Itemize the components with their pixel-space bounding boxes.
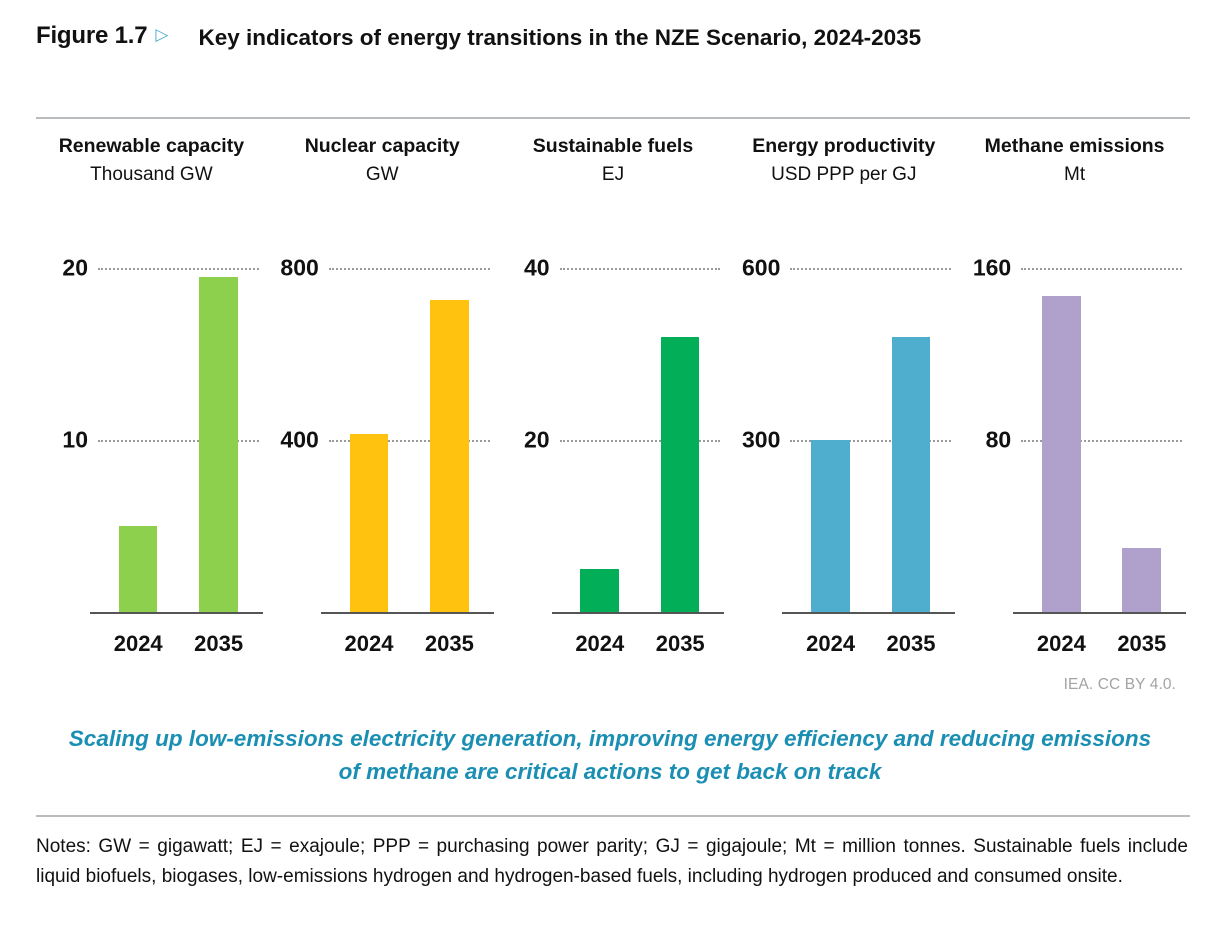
x-axis-labels: 20242035 bbox=[98, 631, 259, 657]
x-axis-labels: 20242035 bbox=[1021, 631, 1182, 657]
chart-panels: Renewable capacityThousand GW10202024203… bbox=[36, 133, 1190, 653]
panel-unit: GW bbox=[267, 162, 498, 189]
bar-renewable-capacity-2024 bbox=[119, 526, 158, 612]
figure-label: Figure 1.7 bbox=[36, 22, 147, 50]
x-axis-tick-label: 2035 bbox=[871, 631, 951, 657]
bar-group bbox=[329, 268, 490, 612]
triangle-right-icon: ▷ bbox=[155, 26, 168, 43]
panel-energy-productivity: Energy productivityUSD PPP per GJ3006002… bbox=[728, 133, 959, 653]
panel-unit: EJ bbox=[498, 162, 729, 189]
x-axis-labels: 20242035 bbox=[790, 631, 951, 657]
panel-nuclear-capacity: Nuclear capacityGW40080020242035 bbox=[267, 133, 498, 653]
figure-title-row: Figure 1.7 ▷ Key indicators of energy tr… bbox=[36, 22, 1186, 55]
bar-methane-emissions-2035 bbox=[1122, 548, 1161, 613]
panel-heading: Nuclear capacityGW bbox=[267, 133, 498, 189]
y-axis-tick-label: 300 bbox=[742, 427, 780, 454]
x-axis-line bbox=[321, 612, 494, 614]
bar-energy-productivity-2035 bbox=[892, 337, 931, 612]
panel-plot: 30060020242035 bbox=[728, 251, 959, 621]
panel-plot: 204020242035 bbox=[498, 251, 729, 621]
bar-methane-emissions-2024 bbox=[1042, 296, 1081, 612]
panel-heading: Renewable capacityThousand GW bbox=[36, 133, 267, 189]
page-title: Key indicators of energy transitions in … bbox=[198, 22, 921, 55]
bar-energy-productivity-2024 bbox=[811, 440, 850, 612]
y-axis-tick-label: 160 bbox=[973, 255, 1011, 282]
figure-page: Figure 1.7 ▷ Key indicators of energy tr… bbox=[0, 0, 1216, 930]
y-axis-tick-label: 80 bbox=[986, 427, 1012, 454]
plot-area: 1020 bbox=[98, 268, 259, 612]
panel-renewable-capacity: Renewable capacityThousand GW10202024203… bbox=[36, 133, 267, 653]
panel-unit: USD PPP per GJ bbox=[728, 162, 959, 189]
x-axis-tick-label: 2024 bbox=[560, 631, 640, 657]
bar-renewable-capacity-2035 bbox=[199, 277, 238, 612]
y-axis-tick-label: 800 bbox=[280, 255, 318, 282]
y-axis-tick-label: 10 bbox=[62, 427, 88, 454]
iea-credit: IEA. CC BY 4.0. bbox=[1064, 676, 1176, 694]
panel-plot: 102020242035 bbox=[36, 251, 267, 621]
x-axis-labels: 20242035 bbox=[329, 631, 490, 657]
x-axis-tick-label: 2024 bbox=[329, 631, 409, 657]
plot-area: 300600 bbox=[790, 268, 951, 612]
x-axis-tick-label: 2035 bbox=[178, 631, 258, 657]
panel-plot: 8016020242035 bbox=[959, 251, 1190, 621]
x-axis-line bbox=[782, 612, 955, 614]
divider-bottom bbox=[36, 815, 1190, 817]
x-axis-line bbox=[552, 612, 725, 614]
x-axis-line bbox=[90, 612, 263, 614]
y-axis-tick-label: 400 bbox=[280, 427, 318, 454]
x-axis-tick-label: 2035 bbox=[640, 631, 720, 657]
y-axis-tick-label: 20 bbox=[62, 255, 88, 282]
bar-group bbox=[560, 268, 721, 612]
x-axis-tick-label: 2024 bbox=[790, 631, 870, 657]
x-axis-labels: 20242035 bbox=[560, 631, 721, 657]
panel-title: Nuclear capacity bbox=[267, 133, 498, 161]
y-axis-tick-label: 600 bbox=[742, 255, 780, 282]
plot-area: 400800 bbox=[329, 268, 490, 612]
x-axis-tick-label: 2035 bbox=[1102, 631, 1182, 657]
panel-title: Renewable capacity bbox=[36, 133, 267, 161]
x-axis-tick-label: 2024 bbox=[1021, 631, 1101, 657]
panel-heading: Methane emissionsMt bbox=[959, 133, 1190, 189]
bar-sustainable-fuels-2024 bbox=[580, 569, 619, 612]
panel-title: Sustainable fuels bbox=[498, 133, 729, 161]
bar-nuclear-capacity-2024 bbox=[350, 434, 389, 612]
panel-methane-emissions: Methane emissionsMt8016020242035 bbox=[959, 133, 1190, 653]
panel-unit: Thousand GW bbox=[36, 162, 267, 189]
panel-heading: Energy productivityUSD PPP per GJ bbox=[728, 133, 959, 189]
bar-group bbox=[790, 268, 951, 612]
panel-sustainable-fuels: Sustainable fuelsEJ204020242035 bbox=[498, 133, 729, 653]
x-axis-line bbox=[1013, 612, 1186, 614]
panel-title: Energy productivity bbox=[728, 133, 959, 161]
bar-group bbox=[1021, 268, 1182, 612]
key-message: Scaling up low-emissions electricity gen… bbox=[60, 722, 1160, 789]
y-axis-tick-label: 20 bbox=[524, 427, 550, 454]
panel-unit: Mt bbox=[959, 162, 1190, 189]
divider-top bbox=[36, 117, 1190, 119]
panel-plot: 40080020242035 bbox=[267, 251, 498, 621]
plot-area: 80160 bbox=[1021, 268, 1182, 612]
bar-nuclear-capacity-2035 bbox=[430, 300, 469, 612]
plot-area: 2040 bbox=[560, 268, 721, 612]
y-axis-tick-label: 40 bbox=[524, 255, 550, 282]
bar-sustainable-fuels-2035 bbox=[661, 337, 700, 612]
panel-heading: Sustainable fuelsEJ bbox=[498, 133, 729, 189]
figure-notes: Notes: GW = gigawatt; EJ = exajoule; PPP… bbox=[36, 832, 1188, 892]
panel-title: Methane emissions bbox=[959, 133, 1190, 161]
x-axis-tick-label: 2024 bbox=[98, 631, 178, 657]
x-axis-tick-label: 2035 bbox=[409, 631, 489, 657]
bar-group bbox=[98, 268, 259, 612]
